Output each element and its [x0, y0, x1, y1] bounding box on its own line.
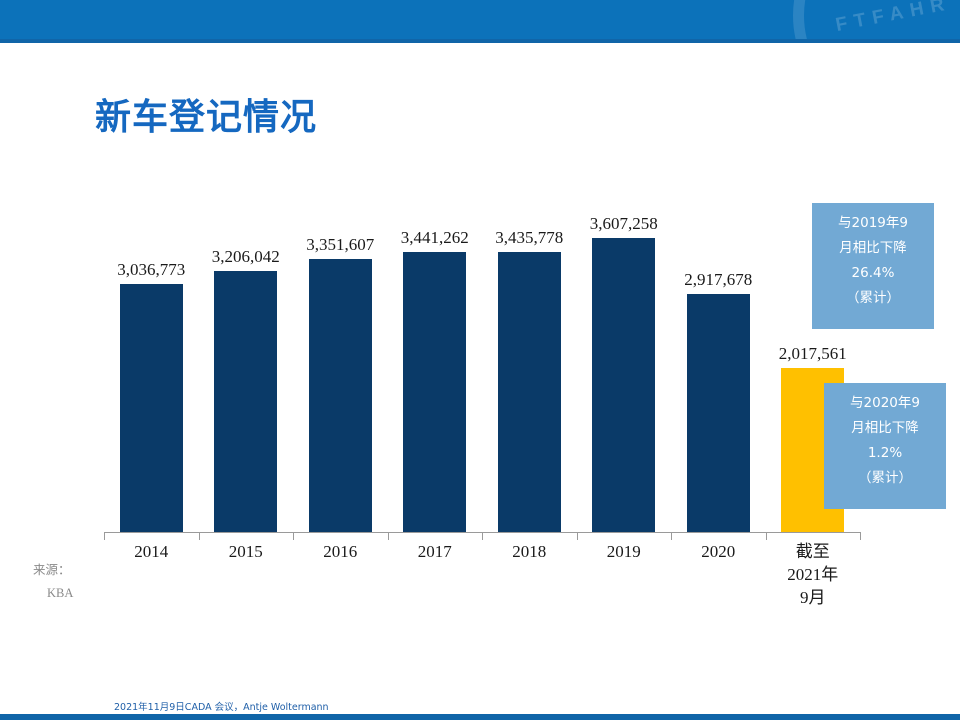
- category-label-line: 截至: [766, 541, 861, 564]
- bar-rect: [309, 259, 372, 532]
- bar-2015: 3,206,042: [214, 271, 277, 532]
- category-label-line: 2014: [104, 541, 199, 564]
- callout-line: 与2019年9: [818, 211, 928, 236]
- bar-value-label: 3,351,607: [306, 235, 374, 255]
- bar-chart: 3,036,7733,206,0423,351,6073,441,2623,43…: [0, 0, 960, 720]
- bar-2017: 3,441,262: [403, 252, 466, 532]
- bar-rect: [120, 284, 183, 532]
- category-label-line: 2020: [671, 541, 766, 564]
- callout-line: 月相比下降: [830, 416, 940, 441]
- callout-percent: 26.4%: [818, 261, 928, 286]
- callout-2019-comparison: 与2019年9 月相比下降 26.4% （累计）: [812, 203, 934, 329]
- category-label-line: 2018: [482, 541, 577, 564]
- callout-percent: 1.2%: [830, 441, 940, 466]
- footer-text: 2021年11月9日CADA 会议，Antje Woltermann: [114, 699, 329, 713]
- callout-line: 与2020年9: [830, 391, 940, 416]
- bar-value-label: 3,036,773: [117, 260, 185, 280]
- bar-value-label: 3,607,258: [590, 214, 658, 234]
- axis-tick: [104, 532, 105, 540]
- footer-rule: [0, 714, 960, 720]
- axis-tick: [388, 532, 389, 540]
- bar-rect: [592, 238, 655, 532]
- axis-tick: [482, 532, 483, 540]
- bar-value-label: 2,017,561: [779, 344, 847, 364]
- axis-tick: [293, 532, 294, 540]
- bar-value-label: 3,441,262: [401, 228, 469, 248]
- category-label: 2020: [671, 541, 766, 564]
- bar-2018: 3,435,778: [498, 252, 561, 532]
- axis-tick: [671, 532, 672, 540]
- category-label: 2016: [293, 541, 388, 564]
- bar-2016: 3,351,607: [309, 259, 372, 532]
- callout-line: （累计）: [830, 466, 940, 491]
- category-label: 截至2021年9月: [766, 541, 861, 610]
- bar-2020: 2,917,678: [687, 294, 750, 532]
- bar-rect: [498, 252, 561, 532]
- category-label: 2017: [388, 541, 483, 564]
- category-label: 2019: [577, 541, 672, 564]
- category-label: 2018: [482, 541, 577, 564]
- category-label: 2014: [104, 541, 199, 564]
- bar-2014: 3,036,773: [120, 284, 183, 532]
- axis-tick: [860, 532, 861, 540]
- bar-value-label: 2,917,678: [684, 270, 752, 290]
- bar-2019: 3,607,258: [592, 238, 655, 532]
- bar-rect: [687, 294, 750, 532]
- source-value: KBA: [33, 582, 73, 606]
- category-label-line: 2015: [199, 541, 294, 564]
- bar-rect: [403, 252, 466, 532]
- bar-rect: [214, 271, 277, 532]
- axis-tick: [766, 532, 767, 540]
- category-label: 2015: [199, 541, 294, 564]
- category-label-line: 2021年: [766, 564, 861, 587]
- category-label-line: 2016: [293, 541, 388, 564]
- axis-tick: [199, 532, 200, 540]
- bar-value-label: 3,435,778: [495, 228, 563, 248]
- category-label-line: 2017: [388, 541, 483, 564]
- callout-2020-comparison: 与2020年9 月相比下降 1.2% （累计）: [824, 383, 946, 509]
- bar-value-label: 3,206,042: [212, 247, 280, 267]
- source-block: 来源： KBA: [33, 558, 73, 606]
- callout-line: 月相比下降: [818, 236, 928, 261]
- category-label-line: 9月: [766, 587, 861, 610]
- axis-tick: [577, 532, 578, 540]
- category-label-line: 2019: [577, 541, 672, 564]
- callout-line: （累计）: [818, 286, 928, 311]
- source-label: 来源：: [33, 562, 71, 577]
